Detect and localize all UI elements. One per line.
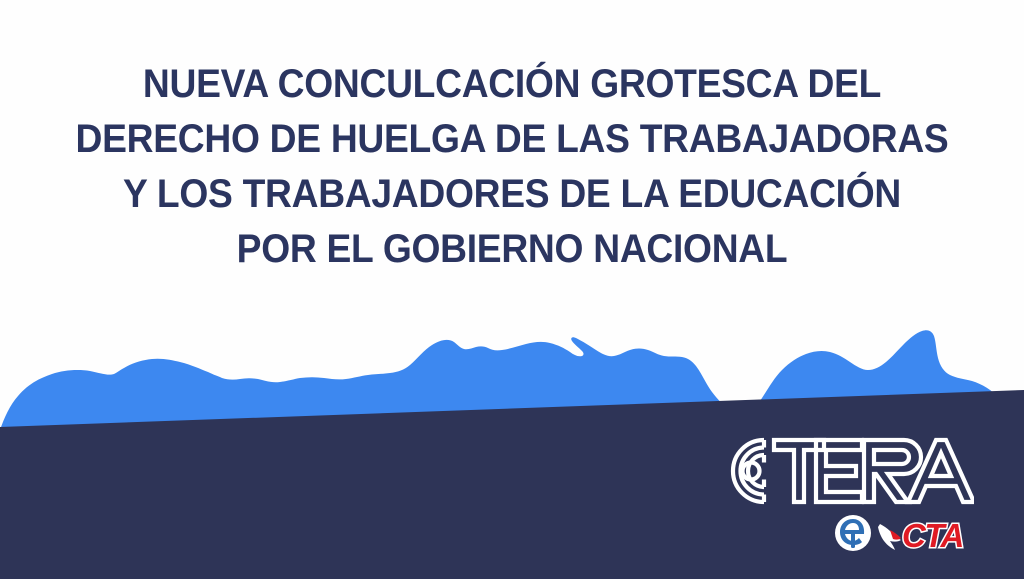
headline-line-4: POR EL GOBIERNO NACIONAL: [36, 222, 988, 277]
headline-line-3: Y LOS TRABAJADORES DE LA EDUCACIÓN: [36, 167, 988, 222]
headline-line-1: NUEVA CONCULCACIÓN GROTESCA DEL: [36, 57, 988, 112]
cta-running-figure-icon: [878, 524, 901, 550]
page-title: NUEVA CONCULCACIÓN GROTESCA DEL DERECHO …: [0, 57, 1024, 277]
poster-canvas: NUEVA CONCULCACIÓN GROTESCA DEL DERECHO …: [0, 0, 1024, 579]
ctera-wordmark: [712, 428, 974, 514]
ctera-roundel-icon: [835, 515, 871, 551]
ctera-logo: CTA: [712, 428, 980, 558]
cta-logo: CTA: [902, 517, 963, 554]
cta-logo-text: CTA: [902, 517, 963, 554]
headline-line-2: DERECHO DE HUELGA DE LAS TRABAJADORAS: [36, 112, 988, 167]
ctera-concentric-c-icon: [733, 440, 764, 502]
sublogo-row: CTA: [832, 510, 980, 556]
